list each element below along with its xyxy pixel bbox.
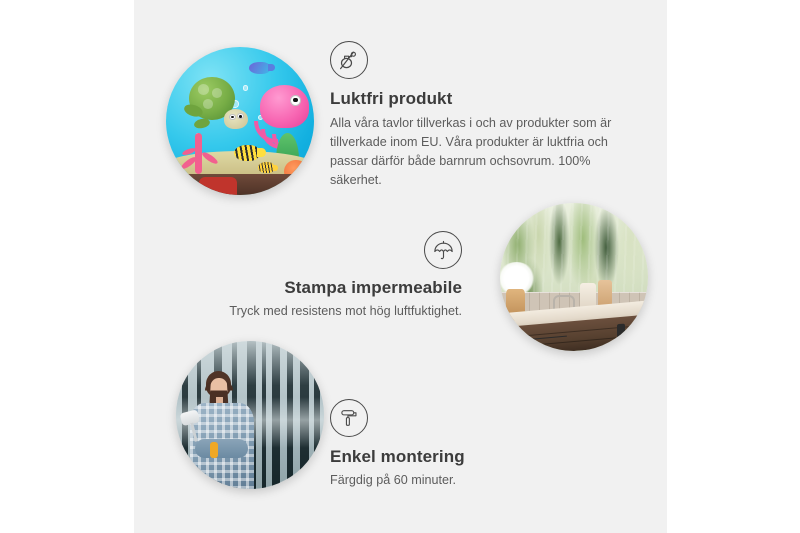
feature-block-odour-free: Luktfri produkt Alla våra tavlor tillver… bbox=[330, 41, 626, 190]
feature-title: Stampa impermeabile bbox=[186, 277, 462, 298]
feature-block-waterproof-print: Stampa impermeabile Tryck med resistens … bbox=[186, 231, 462, 321]
feature-text: Alla våra tavlor tillverkas i och av pro… bbox=[330, 114, 626, 190]
coral-icon bbox=[178, 130, 222, 174]
sea-foreground-rock bbox=[166, 174, 314, 195]
fish-icon bbox=[234, 145, 259, 161]
no-spray-bottle-icon bbox=[330, 41, 368, 79]
fish-icon bbox=[258, 162, 274, 172]
umbrella-icon bbox=[424, 231, 462, 269]
paint-roller-icon bbox=[330, 399, 368, 437]
underwater-cartoon-circle-image bbox=[166, 47, 314, 195]
bathroom-vanity-circle-image bbox=[500, 203, 648, 351]
feature-title: Luktfri produkt bbox=[330, 88, 626, 109]
feature-text: Tryck med resistens mot hög luftfuktighe… bbox=[186, 302, 462, 321]
sea-foreground-red-rock bbox=[199, 177, 237, 195]
feature-title: Enkel montering bbox=[330, 446, 590, 467]
fish-icon bbox=[249, 62, 270, 74]
promo-infographic: Luktfri produkt Alla våra tavlor tillver… bbox=[0, 0, 800, 533]
turtle-icon bbox=[184, 77, 246, 136]
woman-with-roller-circle-image bbox=[176, 341, 324, 489]
feature-text: Färgdig på 60 minuter. bbox=[330, 471, 590, 490]
feature-block-easy-mounting: Enkel montering Färgdig på 60 minuter. bbox=[330, 399, 590, 490]
woman-figure bbox=[185, 371, 268, 489]
